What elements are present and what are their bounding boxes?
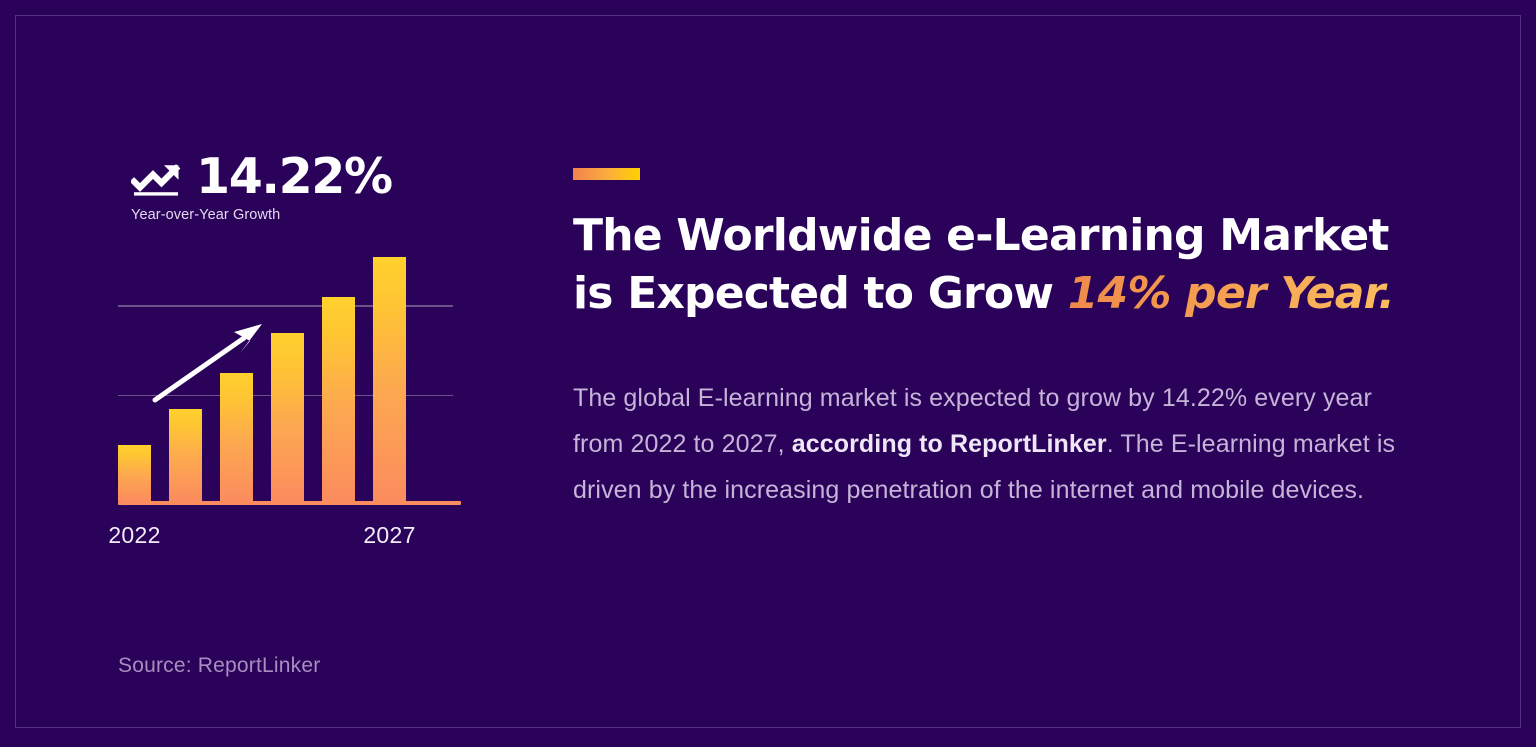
body-paragraph: The global E-learning market is expected… xyxy=(573,375,1403,513)
chart-plot-area xyxy=(110,240,458,505)
headline-emphasis-text: 14% per Year. xyxy=(1068,268,1394,319)
kpi-value: 14.22% xyxy=(196,156,392,198)
growth-bar-chart: 20222027 xyxy=(110,240,470,570)
chart-axis-tick-label: 2027 xyxy=(363,522,415,549)
kpi-caption: Year-over-Year Growth xyxy=(131,207,392,223)
kpi-headline-row: 14.22% xyxy=(131,152,392,198)
growth-trend-arrow xyxy=(110,240,458,505)
source-attribution: Source: ReportLinker xyxy=(118,654,320,678)
chart-axis-tick-label: 2022 xyxy=(108,522,160,549)
accent-rule xyxy=(573,168,640,180)
infographic-canvas: 14.22% Year-over-Year Growth 20222027 So… xyxy=(0,0,1536,747)
right-content-panel: The Worldwide e-Learning Market is Expec… xyxy=(573,0,1433,747)
trend-up-chart-icon xyxy=(131,152,187,198)
left-statistics-panel: 14.22% Year-over-Year Growth 20222027 So… xyxy=(0,0,520,747)
page-title: The Worldwide e-Learning Market is Expec… xyxy=(573,207,1403,322)
kpi-block: 14.22% Year-over-Year Growth xyxy=(131,152,392,223)
body-text-strong: according to ReportLinker xyxy=(792,430,1107,458)
chart-axis-labels: 20222027 xyxy=(118,522,458,554)
